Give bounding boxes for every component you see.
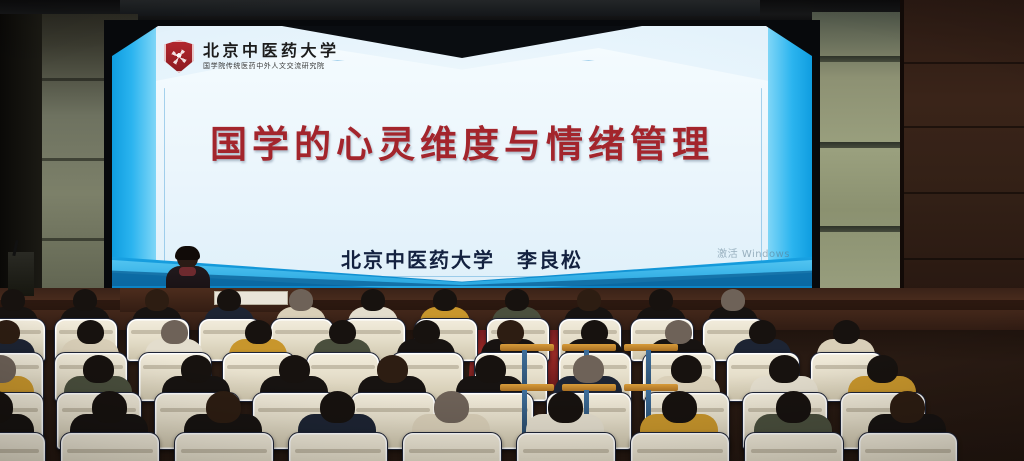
audience-member-head [181, 355, 212, 384]
audience-member-head [890, 391, 925, 423]
audience-member-head [0, 320, 20, 345]
audience-member-head [289, 289, 313, 311]
audience-member-head [92, 391, 127, 423]
folding-writing-desk [500, 384, 554, 391]
audience-seat [516, 432, 616, 461]
lecture-hall-screenshot: 北京中医药大学 国学院传统医药中外人文交流研究院 国学的心灵维度与情绪管理 北京… [0, 0, 1024, 461]
audience-member-head [577, 289, 601, 311]
audience-seat [630, 432, 730, 461]
audience-member-head [217, 289, 241, 311]
wood-seam [900, 192, 1024, 194]
right-wall-seam [812, 56, 904, 62]
audience-member-head [867, 355, 898, 384]
audience-member-head [573, 355, 604, 384]
audience-member-head [497, 320, 524, 345]
audience-member-head [245, 320, 272, 345]
folding-writing-desk [500, 344, 554, 351]
audience-member-head [749, 320, 776, 345]
university-name: 北京中医药大学 [203, 43, 340, 59]
audience-member-head [662, 391, 697, 423]
audience-member-head [671, 355, 702, 384]
audience-seat [858, 432, 958, 461]
audience-member-head [77, 320, 104, 345]
right-wall-seam [812, 142, 904, 148]
right-wood-paneling [900, 0, 1024, 330]
audience-member-head [329, 320, 356, 345]
bucm-shield-emblem-icon [164, 40, 194, 73]
presenter-hair [175, 246, 200, 260]
audience-member-head [279, 355, 310, 384]
audience-seat [288, 432, 388, 461]
audience-member-head [548, 391, 583, 423]
audience-member-head [377, 355, 408, 384]
audience-member-head [721, 289, 745, 311]
folding-writing-desk [562, 384, 616, 391]
audience-seat [744, 432, 844, 461]
audience-member-head [83, 355, 114, 384]
folding-writing-desk [562, 344, 616, 351]
wood-seam [900, 62, 1024, 64]
institute-name: 国学院传统医药中外人文交流研究院 [203, 63, 340, 70]
audience-seat [402, 432, 502, 461]
folding-writing-desk [624, 384, 678, 391]
audience-member-head [581, 320, 608, 345]
slide-logo-block: 北京中医药大学 国学院传统医药中外人文交流研究院 [164, 40, 340, 73]
audience-seat [0, 432, 46, 461]
audience-member-head [833, 320, 860, 345]
audience-member-head [145, 289, 169, 311]
audience-member-head [434, 391, 469, 423]
wall-corner-edge [900, 0, 904, 330]
slide-title: 国学的心灵维度与情绪管理 [112, 114, 812, 168]
windows-activation-watermark: 激活 Windows [717, 245, 790, 260]
audience-member-head [320, 391, 355, 423]
presenter-scarf [179, 267, 196, 276]
audience-member-head [475, 355, 506, 384]
wood-seam [900, 258, 1024, 260]
audience-member-head [161, 320, 188, 345]
audience-member-head [206, 391, 241, 423]
audience-member-head [433, 289, 457, 311]
audience-member-head [649, 289, 673, 311]
folding-writing-desk [624, 344, 678, 351]
audience-seat [60, 432, 160, 461]
audience-member-head [73, 289, 97, 311]
audience-member-head [1, 289, 25, 311]
slide-corner-top-left [112, 26, 158, 56]
audience-member-head [413, 320, 440, 345]
audience-member-head [505, 289, 529, 311]
slide-logo-text: 北京中医药大学 国学院传统医药中外人文交流研究院 [203, 43, 340, 70]
ceiling-light-strip [120, 0, 760, 16]
slide-corner-top-right [766, 26, 812, 56]
audience-seat [174, 432, 274, 461]
wood-seam [900, 126, 1024, 128]
audience-member-head [776, 391, 811, 423]
audience-member-head [665, 320, 692, 345]
right-wall-seam [812, 226, 904, 232]
audience-member-head [361, 289, 385, 311]
projected-slide: 北京中医药大学 国学院传统医药中外人文交流研究院 国学的心灵维度与情绪管理 北京… [112, 26, 812, 288]
audience-member-head [769, 355, 800, 384]
